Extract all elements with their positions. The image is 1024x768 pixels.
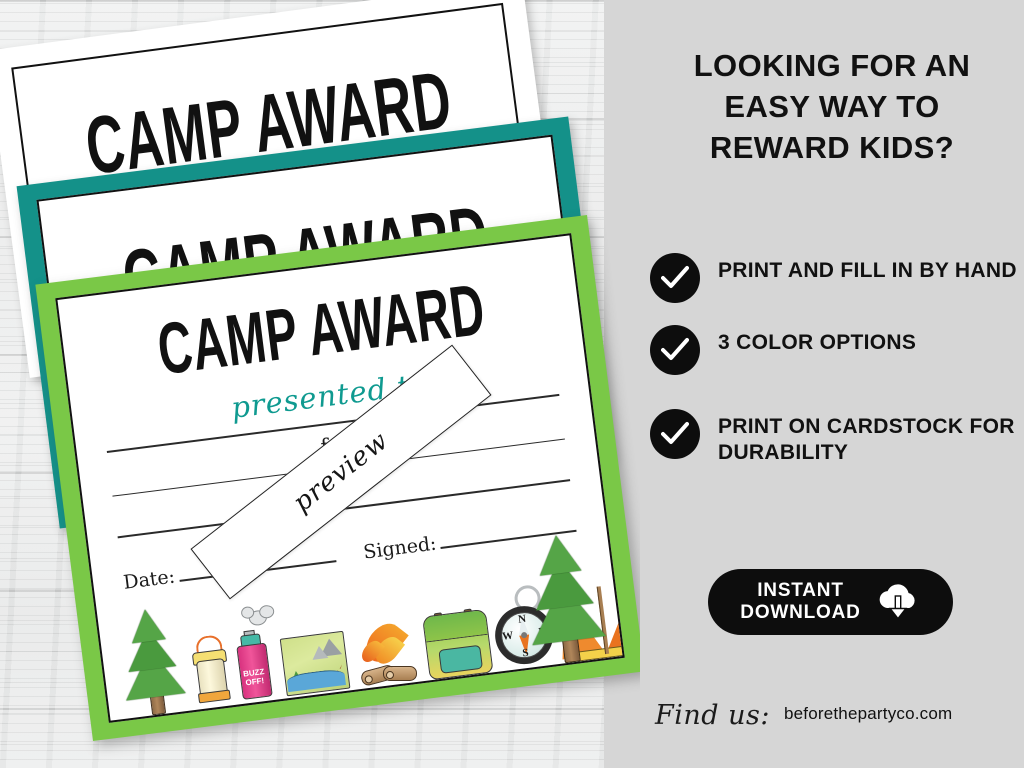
feature-label: PRINT ON CARDSTOCK FOR DURABILITY (718, 409, 1024, 466)
check-icon (650, 253, 700, 303)
promo-graphic: CAMP AWARD presented to CAMP AWARD CAMP … (0, 0, 1024, 768)
headline-line-1: LOOKING FOR AN (640, 46, 1024, 87)
download-line-2: DOWNLOAD (740, 602, 860, 624)
pine-tree-icon (518, 523, 608, 667)
feature-label: 3 COLOR OPTIONS (718, 325, 916, 356)
headline-line-2: EASY WAY TO (640, 87, 1024, 128)
compass-label-s: S (522, 647, 530, 660)
check-icon (650, 409, 700, 459)
download-line-1: INSTANT (740, 580, 860, 602)
compass-label-n: N (517, 613, 526, 626)
feature-label: PRINT AND FILL IN BY HAND (718, 253, 1017, 284)
smoke-puff-icon (258, 604, 275, 619)
check-icon (650, 325, 700, 375)
feature-item: 3 COLOR OPTIONS (650, 325, 1024, 375)
map-icon (280, 631, 351, 697)
backpack-icon (421, 601, 492, 680)
footer: Find us: beforethepartyco.com (655, 700, 1024, 731)
feature-list: PRINT AND FILL IN BY HAND 3 COLOR OPTION… (650, 253, 1024, 486)
website-url: beforethepartyco.com (784, 704, 952, 727)
lantern-icon (192, 630, 233, 703)
instant-download-label: INSTANT DOWNLOAD (740, 580, 860, 625)
find-us-label: Find us: (655, 700, 770, 731)
instant-download-button[interactable]: INSTANT DOWNLOAD (708, 569, 953, 635)
headline-line-3: REWARD KIDS? (640, 128, 1024, 169)
cloud-download-icon (875, 582, 921, 622)
compass-label-w: W (501, 630, 513, 643)
campfire-icon (351, 606, 420, 687)
bug-spray-icon: BUZZ OFF! (234, 627, 273, 700)
feature-item: PRINT ON CARDSTOCK FOR DURABILITY (650, 409, 1024, 466)
pine-tree-icon (114, 600, 188, 719)
headline: LOOKING FOR AN EASY WAY TO REWARD KIDS? (640, 46, 1024, 169)
feature-item: PRINT AND FILL IN BY HAND (650, 253, 1024, 303)
